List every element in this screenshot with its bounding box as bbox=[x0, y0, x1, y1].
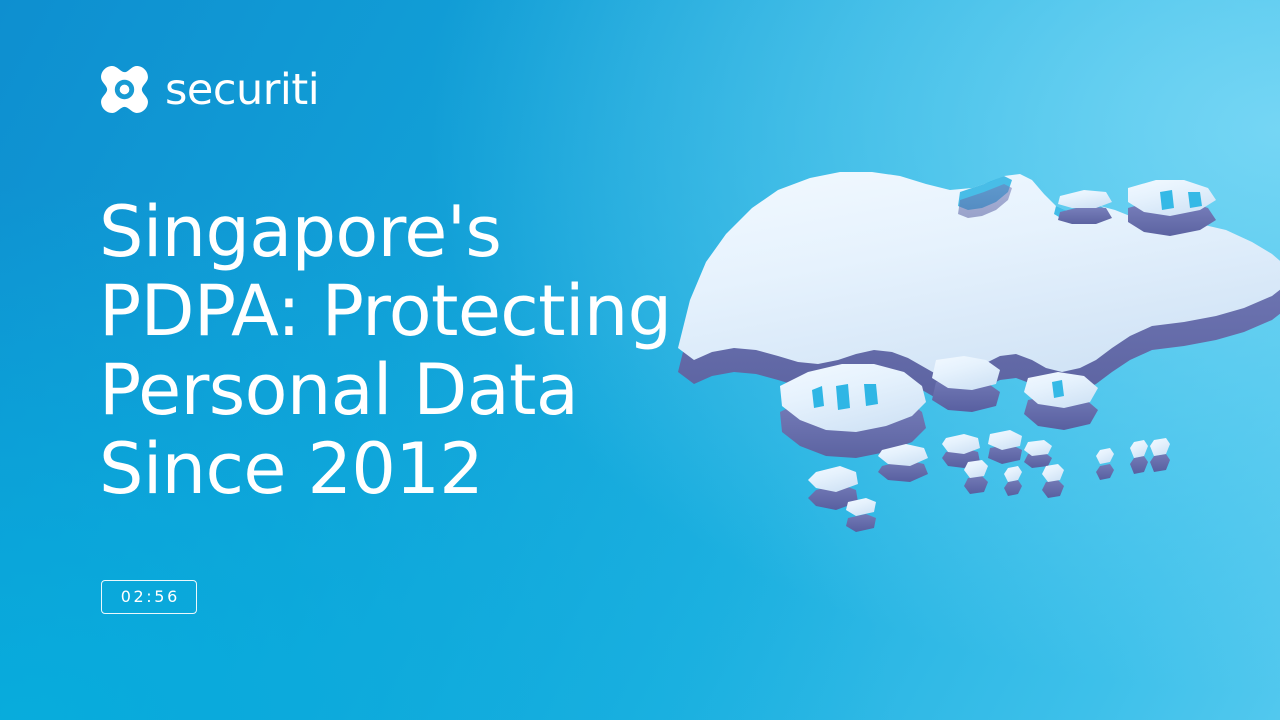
title-line-1: Singapore's bbox=[99, 193, 719, 272]
securiti-logo-icon bbox=[99, 64, 150, 115]
brand-wordmark: securiti bbox=[165, 69, 319, 112]
singapore-3d-map bbox=[660, 150, 1280, 570]
title-line-4: Since 2012 bbox=[99, 430, 719, 509]
duration-badge: 02:56 bbox=[101, 580, 197, 614]
duration-label: 02:56 bbox=[118, 589, 180, 605]
brand-lockup[interactable]: securiti bbox=[99, 64, 319, 115]
jurong-island bbox=[780, 364, 926, 458]
title-line-3: Personal Data bbox=[99, 351, 719, 430]
title-line-2: PDPA: Protecting bbox=[99, 272, 719, 351]
singapore-map-illustration bbox=[660, 150, 1280, 570]
page-title: Singapore's PDPA: Protecting Personal Da… bbox=[99, 193, 719, 509]
video-thumbnail: securiti Singapore's PDPA: Protecting Pe… bbox=[0, 0, 1280, 720]
